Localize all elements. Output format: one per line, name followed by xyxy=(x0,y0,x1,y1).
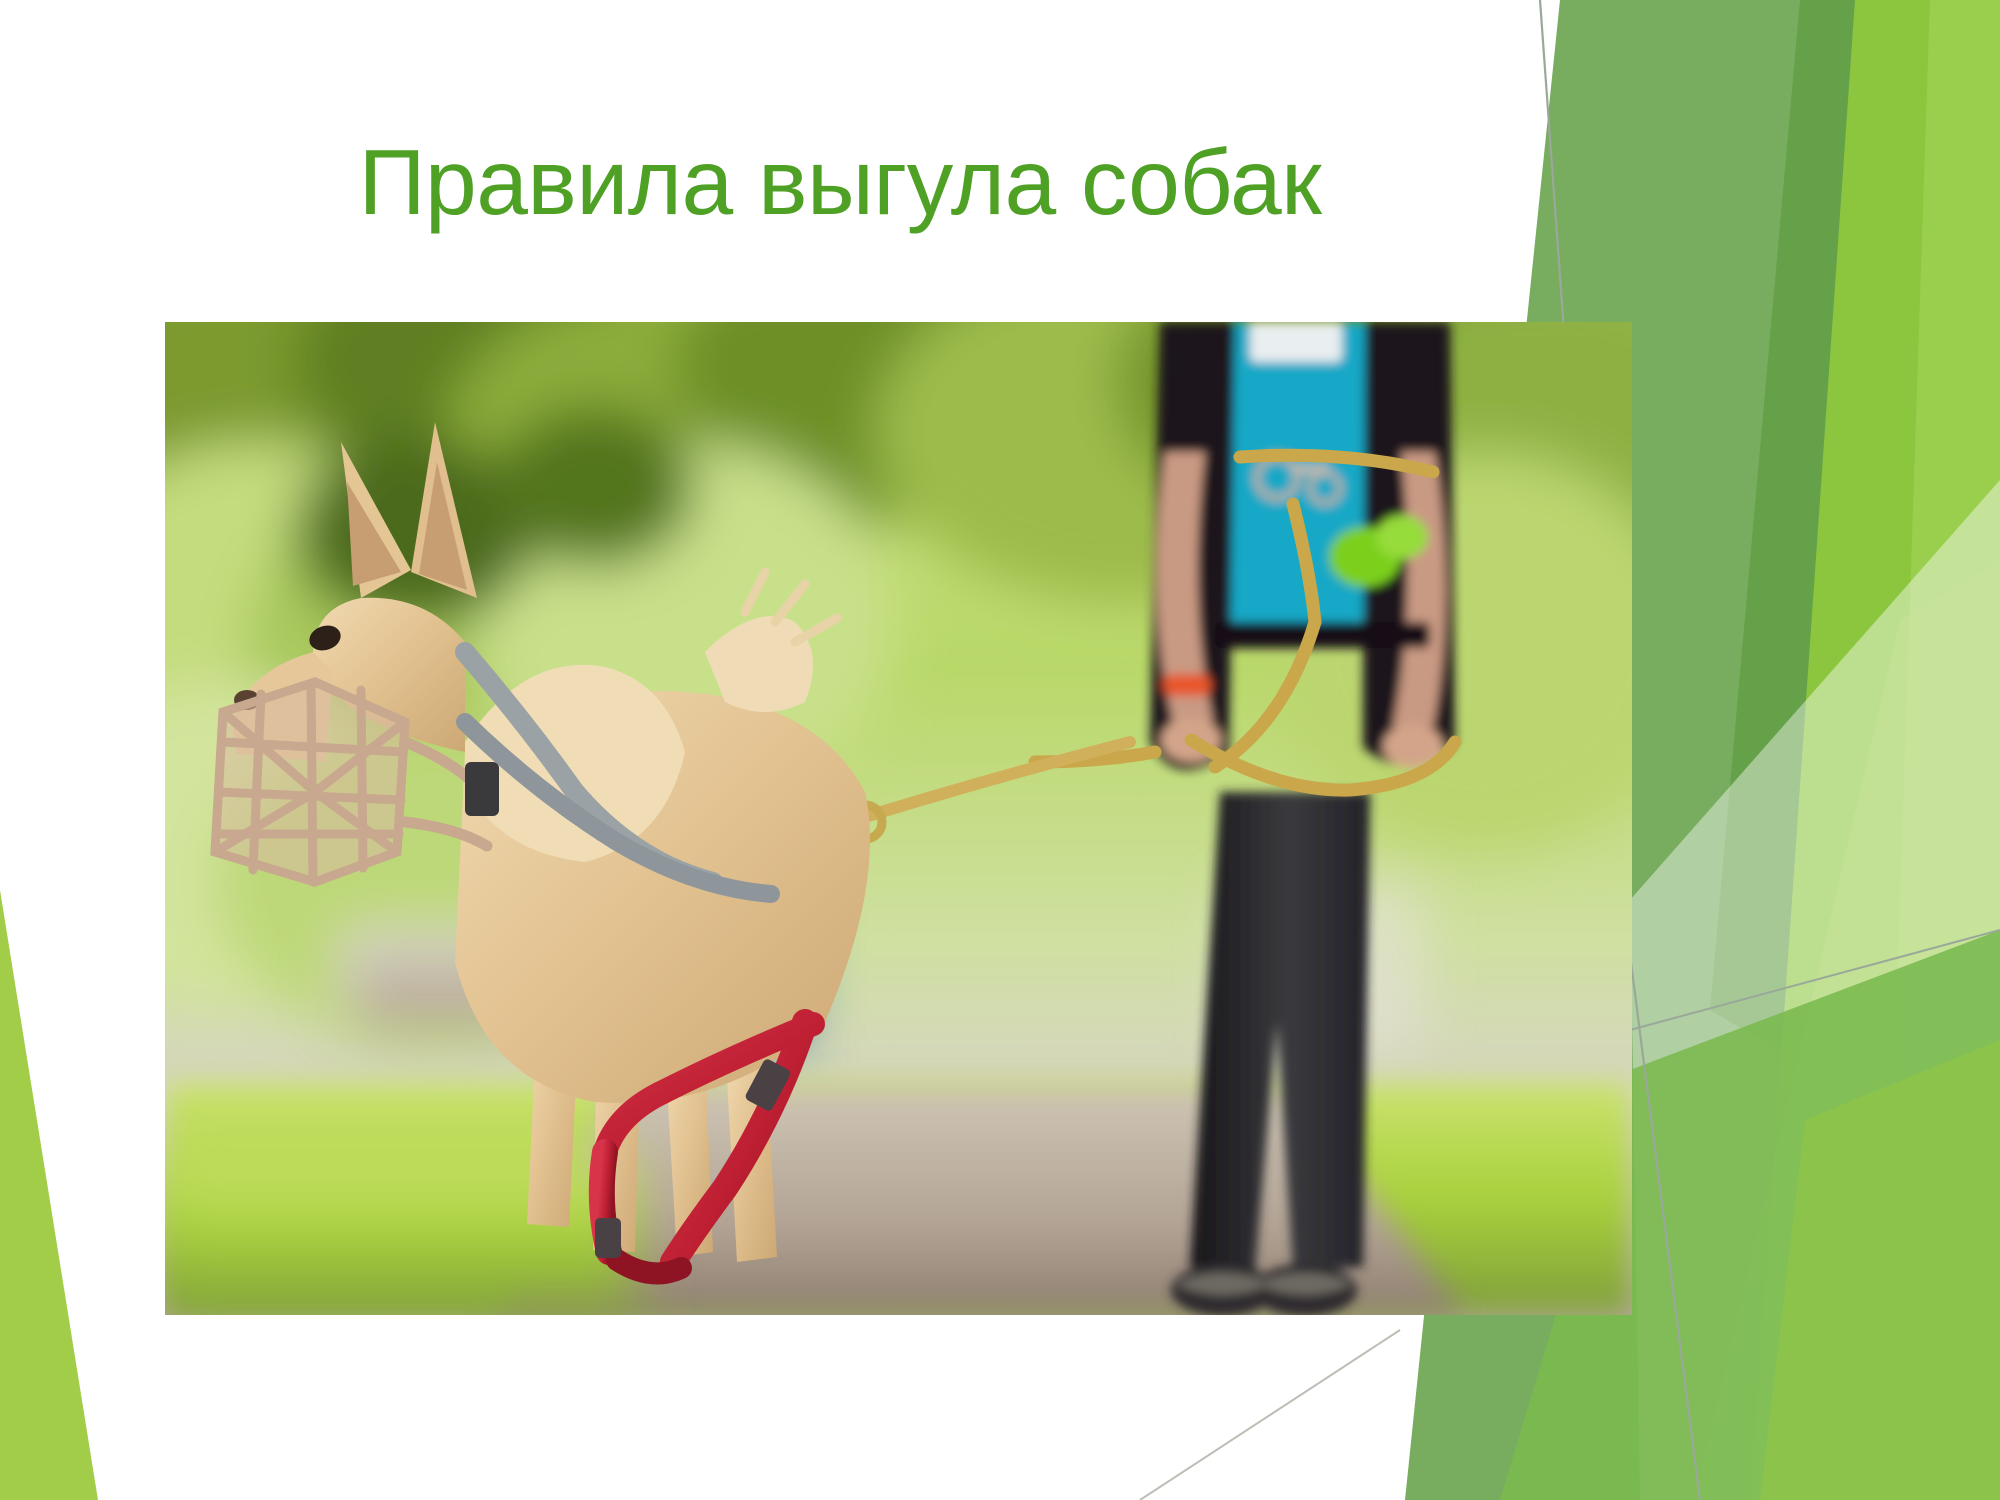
photo-illustration xyxy=(165,322,1632,1315)
right-light-green-panel xyxy=(1700,520,2000,1500)
right-lime-panel xyxy=(1750,0,2000,1500)
right-bright-lime-panel xyxy=(1880,0,2000,1500)
right-overlay-wedge-d xyxy=(1760,1040,2000,1500)
right-overlay-wedge-a xyxy=(1630,480,2000,1500)
left-lime-wedge xyxy=(0,890,98,1500)
hairline-accent-lower-left xyxy=(1140,1330,1400,1500)
presentation-slide: Правила выгула собак xyxy=(0,0,2000,1500)
slide-photo[interactable] xyxy=(165,322,1632,1315)
page-title: Правила выгула собак xyxy=(250,132,1430,232)
right-dark-green-panel xyxy=(1710,0,1995,1120)
hairline-accent-diagonal xyxy=(1630,930,2000,1030)
title-placeholder: Правила выгула собак xyxy=(250,132,1430,232)
right-overlay-wedge-b xyxy=(1695,560,2000,1500)
right-pale-green-panel xyxy=(1630,640,2000,1500)
